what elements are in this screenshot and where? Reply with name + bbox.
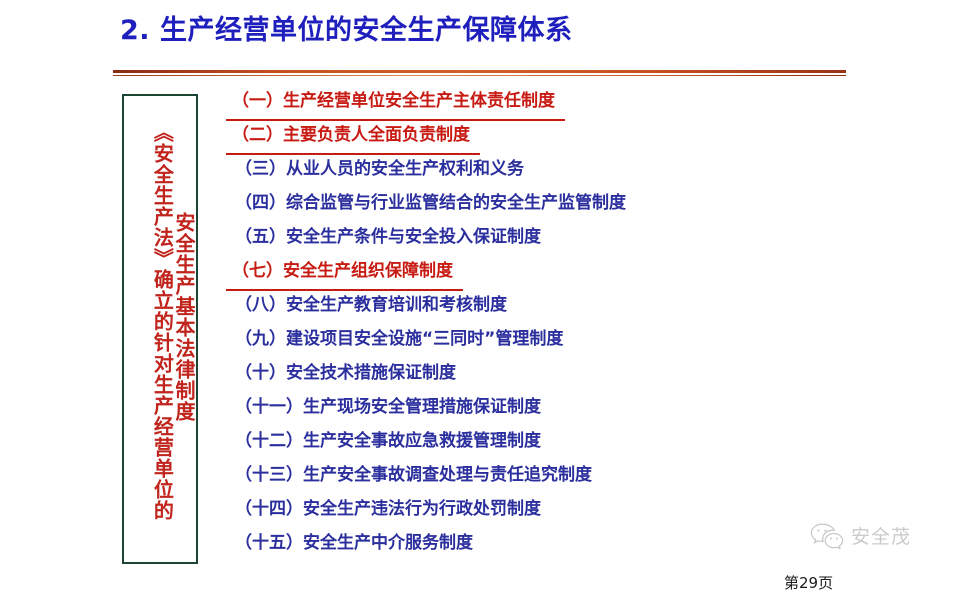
list-item-label: （十）安全技术措施保证制度 — [232, 356, 459, 390]
list-item-label: （三）从业人员的安全生产权利和义务 — [232, 152, 527, 186]
page-number: 第29页 — [784, 572, 833, 593]
slide-canvas: 2. 生产经营单位的安全生产保障体系 《安全生产法》确立的针对生产经营单位的 安… — [0, 0, 960, 601]
list-item: （十一）生产现场安全管理措施保证制度 — [232, 390, 932, 424]
list-item-label: （八）安全生产教育培训和考核制度 — [232, 288, 510, 322]
list-item: （八）安全生产教育培训和考核制度 — [232, 288, 932, 322]
list-item-label: （四）综合监管与行业监管结合的安全生产监管制度 — [232, 186, 629, 220]
list-item: （四）综合监管与行业监管结合的安全生产监管制度 — [232, 186, 932, 220]
watermark-name: 安全茂 — [851, 522, 911, 549]
page-title: 2. 生产经营单位的安全生产保障体系 — [120, 14, 572, 48]
list-item: （五）安全生产条件与安全投入保证制度 — [232, 220, 932, 254]
wechat-icon — [810, 523, 844, 549]
list-item-label: （一）生产经营单位安全生产主体责任制度 — [226, 84, 565, 121]
list-item: （十三）生产安全事故调查处理与责任追究制度 — [232, 458, 932, 492]
list-item-label: （七）安全生产组织保障制度 — [226, 254, 463, 291]
list-item-label: （五）安全生产条件与安全投入保证制度 — [232, 220, 544, 254]
vertical-caption-text: 《安全生产法》确立的针对生产经营单位的 安全生产基本法律制度 — [151, 100, 194, 558]
list-item-label: （十二）生产安全事故应急救援管理制度 — [232, 424, 544, 458]
list-item-label: （十五）安全生产中介服务制度 — [232, 526, 476, 560]
list-item: （九）建设项目安全设施“三同时”管理制度 — [232, 322, 932, 356]
list-item: （十四）安全生产违法行为行政处罚制度 — [232, 492, 932, 526]
watermark: 安全茂 — [810, 522, 911, 549]
list-item-label: （九）建设项目安全设施“三同时”管理制度 — [232, 322, 566, 356]
list-item-label: （十三）生产安全事故调查处理与责任追究制度 — [232, 458, 595, 492]
list-item: （二）主要负责人全面负责制度 — [232, 118, 932, 152]
list-item-label: （十四）安全生产违法行为行政处罚制度 — [232, 492, 544, 526]
list-item-label: （二）主要负责人全面负责制度 — [226, 118, 480, 155]
list-item: （一）生产经营单位安全生产主体责任制度 — [232, 84, 932, 118]
list-item: （十）安全技术措施保证制度 — [232, 356, 932, 390]
vertical-caption-column-right: 《安全生产法》确立的针对生产经营单位的 — [151, 100, 173, 521]
list-item: （三）从业人员的安全生产权利和义务 — [232, 152, 932, 186]
vertical-caption-box: 《安全生产法》确立的针对生产经营单位的 安全生产基本法律制度 — [122, 94, 198, 564]
title-divider — [113, 70, 846, 78]
list-item-label: （十一）生产现场安全管理措施保证制度 — [232, 390, 544, 424]
list-item: （十二）生产安全事故应急救援管理制度 — [232, 424, 932, 458]
institution-list: （一）生产经营单位安全生产主体责任制度 （二）主要负责人全面负责制度 （三）从业… — [232, 84, 932, 560]
vertical-caption-column-left: 安全生产基本法律制度 — [172, 100, 194, 422]
divider-thick-rule — [113, 70, 846, 73]
divider-thin-rule — [113, 75, 846, 76]
list-item: （七）安全生产组织保障制度 — [232, 254, 932, 288]
